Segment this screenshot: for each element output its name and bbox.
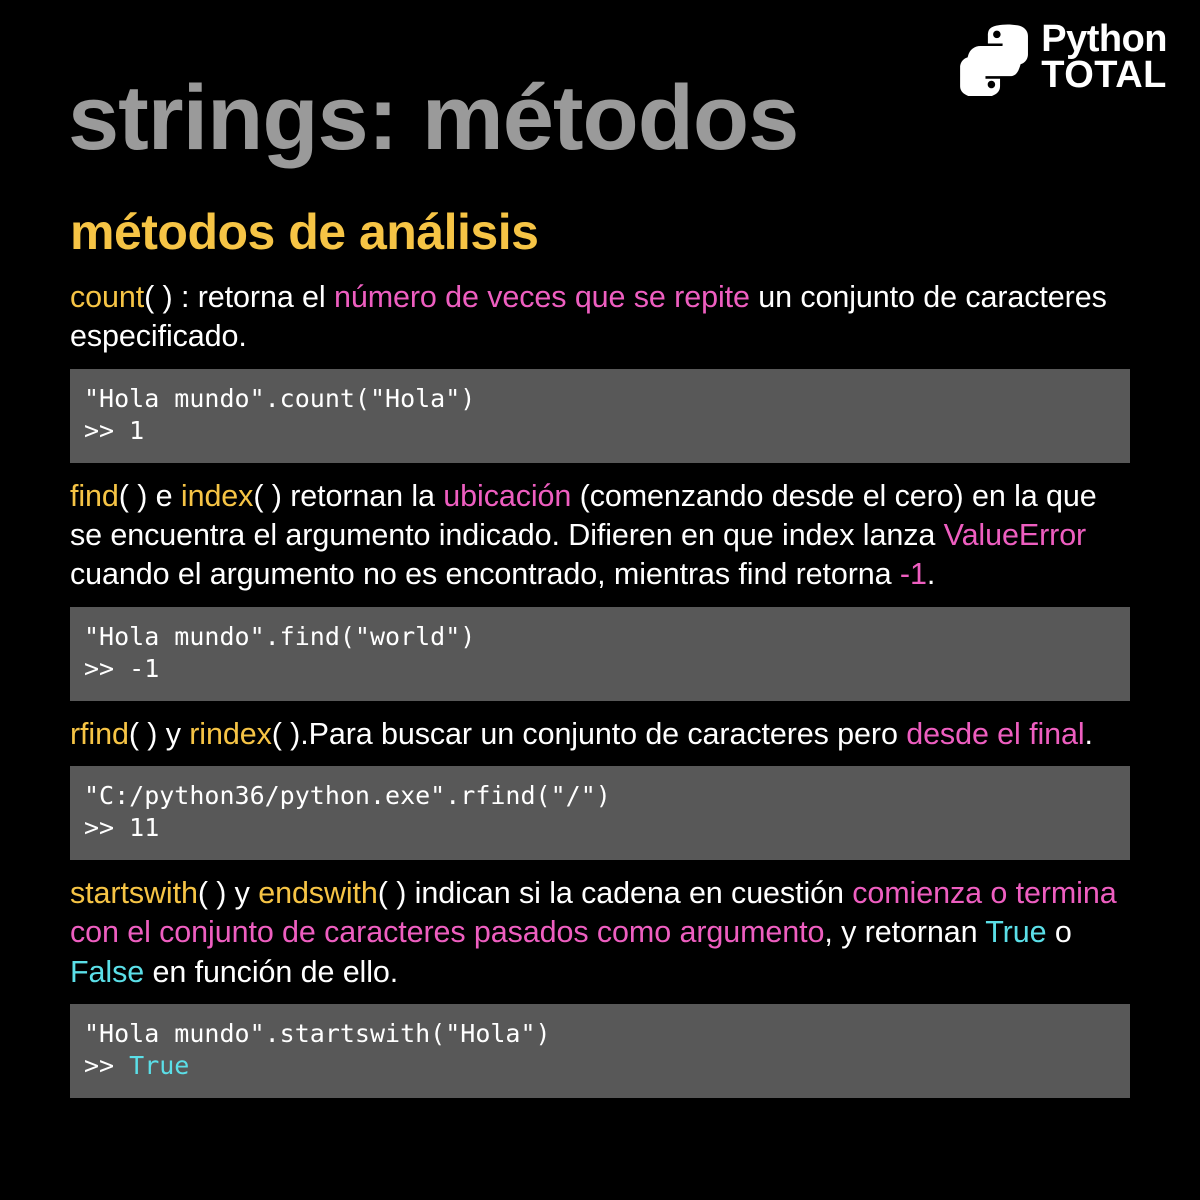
- code-segment: True: [129, 1051, 189, 1080]
- code-line: >> 11: [84, 812, 1116, 844]
- code-segment: "Hola mundo".find("world"): [84, 622, 475, 651]
- text-segment: index: [181, 479, 253, 513]
- logo-total-text: TOTAL: [1041, 58, 1167, 94]
- code-segment: >> 11: [84, 813, 159, 842]
- text-segment: count: [70, 280, 144, 314]
- text-segment: False: [70, 955, 144, 989]
- text-segment: True: [985, 915, 1046, 949]
- text-segment: en función de ello.: [144, 955, 398, 989]
- python-logo-icon: [955, 20, 1031, 96]
- text-segment: -1: [900, 557, 927, 591]
- text-segment: .Para buscar un conjunto de caracteres p…: [300, 717, 906, 751]
- method-description: find( ) e index( ) retornan la ubicación…: [70, 477, 1130, 595]
- text-segment: ( ): [198, 876, 227, 910]
- page-header: strings: métodos Python TOTAL: [0, 0, 1200, 205]
- code-line: "Hola mundo".count("Hola"): [84, 383, 1116, 415]
- method-block: count( ) : retorna el número de veces qu…: [70, 278, 1130, 463]
- text-segment: desde el final: [906, 717, 1084, 751]
- text-segment: y: [157, 717, 189, 751]
- code-line: "Hola mundo".startswith("Hola"): [84, 1018, 1116, 1050]
- page-title: strings: métodos: [68, 72, 798, 164]
- text-segment: ( ): [253, 479, 282, 513]
- text-segment: .: [1085, 717, 1093, 751]
- text-segment: ( ): [378, 876, 407, 910]
- code-example: "C:/python36/python.exe".rfind("/")>> 11: [70, 766, 1130, 860]
- code-line: "C:/python36/python.exe".rfind("/"): [84, 780, 1116, 812]
- code-line: >> 1: [84, 415, 1116, 447]
- code-segment: "Hola mundo".startswith("Hola"): [84, 1019, 551, 1048]
- text-segment: ( ): [272, 717, 301, 751]
- brand-logo: Python TOTAL: [955, 20, 1167, 96]
- text-segment: cuando el argumento no es encontrado, mi…: [70, 557, 900, 591]
- code-example: "Hola mundo".startswith("Hola")>> True: [70, 1004, 1130, 1098]
- text-segment: rindex: [189, 717, 271, 751]
- text-segment: ( ): [119, 479, 148, 513]
- method-block: startswith( ) y endswith( ) indican si l…: [70, 874, 1130, 1098]
- code-example: "Hola mundo".count("Hola")>> 1: [70, 369, 1130, 463]
- text-segment: e: [147, 479, 181, 513]
- text-segment: número de veces que se repite: [334, 280, 750, 314]
- text-segment: , y retornan: [824, 915, 985, 949]
- text-segment: : retorna el: [173, 280, 334, 314]
- code-segment: "C:/python36/python.exe".rfind("/"): [84, 781, 611, 810]
- text-segment: y: [226, 876, 258, 910]
- content-area: count( ) : retorna el número de veces qu…: [0, 278, 1200, 1098]
- text-segment: retornan la: [282, 479, 443, 513]
- text-segment: ValueError: [944, 518, 1087, 552]
- method-description: rfind( ) y rindex( ).Para buscar un conj…: [70, 715, 1130, 754]
- text-segment: .: [927, 557, 935, 591]
- text-segment: endswith: [258, 876, 378, 910]
- code-segment: >> 1: [84, 416, 144, 445]
- code-segment: "Hola mundo".count("Hola"): [84, 384, 475, 413]
- method-description: count( ) : retorna el número de veces qu…: [70, 278, 1130, 357]
- text-segment: indican si la cadena en cuestión: [406, 876, 852, 910]
- text-segment: ubicación: [443, 479, 571, 513]
- text-segment: o: [1046, 915, 1071, 949]
- text-segment: ( ): [144, 280, 173, 314]
- code-line: >> True: [84, 1050, 1116, 1082]
- section-heading: métodos de análisis: [70, 205, 1200, 260]
- method-blocks: count( ) : retorna el número de veces qu…: [70, 278, 1130, 1098]
- text-segment: find: [70, 479, 119, 513]
- text-segment: rfind: [70, 717, 129, 751]
- method-block: rfind( ) y rindex( ).Para buscar un conj…: [70, 715, 1130, 860]
- code-segment: >>: [84, 1051, 129, 1080]
- code-example: "Hola mundo".find("world")>> -1: [70, 607, 1130, 701]
- code-line: >> -1: [84, 653, 1116, 685]
- logo-python-text: Python: [1041, 22, 1167, 58]
- code-line: "Hola mundo".find("world"): [84, 621, 1116, 653]
- method-block: find( ) e index( ) retornan la ubicación…: [70, 477, 1130, 701]
- text-segment: ( ): [129, 717, 158, 751]
- text-segment: startswith: [70, 876, 198, 910]
- method-description: startswith( ) y endswith( ) indican si l…: [70, 874, 1130, 992]
- code-segment: >> -1: [84, 654, 159, 683]
